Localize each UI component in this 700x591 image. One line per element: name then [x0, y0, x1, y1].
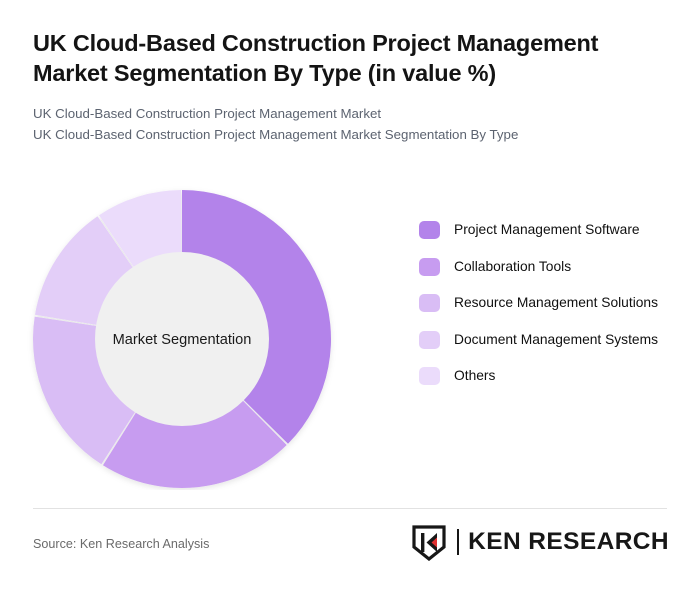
chart-header: UK Cloud-Based Construction Project Mana… [33, 28, 673, 145]
donut-center-label: Market Segmentation [113, 332, 252, 348]
subtitle-group: UK Cloud-Based Construction Project Mana… [33, 104, 673, 145]
logo-divider [457, 529, 459, 555]
chart-card: UK Cloud-Based Construction Project Mana… [0, 0, 700, 591]
source-note: Source: Ken Research Analysis [33, 537, 209, 551]
ken-research-logo: KEN RESEARCH [410, 523, 669, 561]
legend-item[interactable]: Collaboration Tools [419, 257, 687, 277]
legend-swatch-icon [419, 221, 440, 239]
legend-item[interactable]: Document Management Systems [419, 330, 687, 350]
page-title: UK Cloud-Based Construction Project Mana… [33, 28, 673, 88]
legend-swatch-icon [419, 294, 440, 312]
chart-legend: Project Management SoftwareCollaboration… [419, 220, 687, 386]
legend-swatch-icon [419, 367, 440, 385]
legend-item[interactable]: Resource Management Solutions [419, 293, 687, 313]
legend-swatch-icon [419, 331, 440, 349]
legend-swatch-icon [419, 258, 440, 276]
logo-wordmark: KEN RESEARCH [468, 528, 669, 556]
footer-divider [33, 508, 667, 509]
legend-item[interactable]: Others [419, 366, 687, 386]
legend-item[interactable]: Project Management Software [419, 220, 687, 240]
chart-subtitle-2: UK Cloud-Based Construction Project Mana… [33, 125, 673, 146]
legend-label: Collaboration Tools [454, 257, 571, 277]
ken-research-shield-icon [410, 523, 448, 561]
donut-svg: Market Segmentation [25, 170, 340, 490]
legend-label: Document Management Systems [454, 330, 658, 350]
legend-label: Resource Management Solutions [454, 293, 658, 313]
chart-plot-area: Market Segmentation Project Management S… [0, 160, 700, 500]
legend-label: Project Management Software [454, 220, 640, 240]
donut-chart: Market Segmentation [25, 170, 340, 490]
legend-label: Others [454, 366, 495, 386]
chart-subtitle-1: UK Cloud-Based Construction Project Mana… [33, 104, 673, 125]
